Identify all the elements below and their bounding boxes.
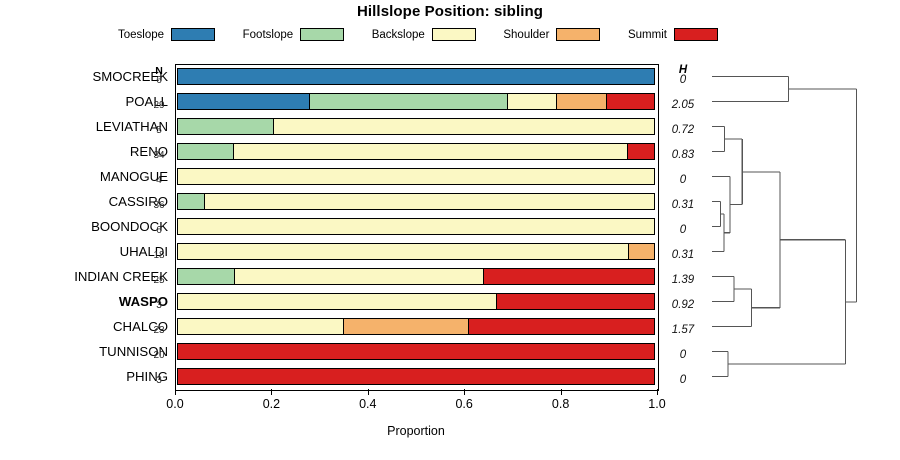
bar-segment-shoulder xyxy=(628,243,655,260)
bar-segment-summit xyxy=(468,318,655,335)
row-count: 18 xyxy=(146,250,172,261)
legend-item-backslope: Backslope xyxy=(372,28,476,41)
row-label-smocreek: SMOCREEK xyxy=(0,64,168,89)
chart-root: Hillslope Position: sibling ToeslopeFoot… xyxy=(0,0,900,460)
stacked-bar xyxy=(177,143,655,160)
stacked-bar xyxy=(177,68,655,85)
bar-segment-shoulder xyxy=(556,93,606,110)
x-tick-label: 0.2 xyxy=(251,397,291,411)
legend-item-shoulder: Shoulder xyxy=(503,28,600,41)
dendrogram xyxy=(690,60,900,400)
stacked-bar xyxy=(177,268,655,285)
row-label-leviathan: LEVIATHAN xyxy=(0,114,168,139)
row-count: 25 xyxy=(146,275,172,286)
row-count: 6 xyxy=(146,225,172,236)
bar-segment-backslope xyxy=(177,218,655,235)
bar-segment-footslope xyxy=(177,268,234,285)
row-label-reno: RENO xyxy=(0,139,168,164)
bar-segment-backslope xyxy=(204,193,655,210)
bar-segment-toeslope xyxy=(177,93,309,110)
x-tick-mark xyxy=(561,389,562,395)
stacked-bar xyxy=(177,193,655,210)
bar-segment-backslope xyxy=(177,243,628,260)
stacked-bar xyxy=(177,93,655,110)
legend-swatch-backslope xyxy=(432,28,476,41)
row-count: 3 xyxy=(146,375,172,386)
bar-segment-backslope xyxy=(177,293,496,310)
row-label-phing: PHING xyxy=(0,364,168,389)
legend-item-footslope: Footslope xyxy=(243,28,345,41)
row-count: 4 xyxy=(146,175,172,186)
row-label-manogue: MANOGUE xyxy=(0,164,168,189)
legend-swatch-shoulder xyxy=(556,28,600,41)
bar-segment-summit xyxy=(177,343,655,360)
bar-segment-summit xyxy=(606,93,655,110)
bar-segment-backslope xyxy=(177,318,343,335)
stacked-bar xyxy=(177,368,655,385)
row-label-chalco: CHALCO xyxy=(0,314,168,339)
row-count: 23 xyxy=(146,325,172,336)
stacked-bar xyxy=(177,218,655,235)
row-count: 6 xyxy=(146,75,172,86)
dendrogram-svg xyxy=(690,60,900,400)
bar-segment-backslope xyxy=(177,168,655,185)
legend-label: Shoulder xyxy=(503,29,549,41)
stacked-bar xyxy=(177,343,655,360)
bar-segment-backslope xyxy=(233,143,627,160)
bar-segment-footslope xyxy=(177,143,233,160)
legend-label: Backslope xyxy=(372,29,425,41)
row-count: 29 xyxy=(146,100,172,111)
legend-item-toeslope: Toeslope xyxy=(118,28,215,41)
bar-segment-backslope xyxy=(507,93,556,110)
bar-segment-footslope xyxy=(309,93,507,110)
bar-segment-summit xyxy=(496,293,655,310)
x-tick-label: 1.0 xyxy=(637,397,677,411)
bar-segment-backslope xyxy=(234,268,483,285)
bar-segment-footslope xyxy=(177,193,204,210)
bar-segment-summit xyxy=(627,143,655,160)
x-tick-label: 0.8 xyxy=(541,397,581,411)
legend-swatch-summit xyxy=(674,28,718,41)
row-label-poall: POALL xyxy=(0,89,168,114)
stacked-bar xyxy=(177,118,655,135)
bar-segment-shoulder xyxy=(343,318,468,335)
x-tick-mark xyxy=(271,389,272,395)
row-label-waspo: WASPO xyxy=(0,289,168,314)
legend-swatch-footslope xyxy=(300,28,344,41)
legend: ToeslopeFootslopeBackslopeShoulderSummit xyxy=(118,26,718,43)
legend-item-summit: Summit xyxy=(628,28,718,41)
row-count: 20 xyxy=(146,350,172,361)
x-tick-label: 0.6 xyxy=(444,397,484,411)
legend-label: Footslope xyxy=(243,29,294,41)
x-tick-mark xyxy=(464,389,465,395)
row-count: 3 xyxy=(146,300,172,311)
legend-swatch-toeslope xyxy=(171,28,215,41)
page-title: Hillslope Position: sibling xyxy=(0,3,900,20)
stacked-bar xyxy=(177,293,655,310)
row-label-uhaldi: UHALDI xyxy=(0,239,168,264)
row-label-boondock: BOONDOCK xyxy=(0,214,168,239)
stacked-bar xyxy=(177,168,655,185)
row-label-indian-creek: INDIAN CREEK xyxy=(0,264,168,289)
x-axis: 0.00.20.40.60.81.0 xyxy=(175,389,657,419)
x-tick-label: 0.4 xyxy=(348,397,388,411)
row-count: 34 xyxy=(146,150,172,161)
bar-segment-backslope xyxy=(273,118,655,135)
bar-segment-footslope xyxy=(177,118,273,135)
bar-segment-summit xyxy=(177,368,655,385)
row-label-tunnison: TUNNISON xyxy=(0,339,168,364)
bar-segment-summit xyxy=(483,268,655,285)
row-count: 5 xyxy=(146,125,172,136)
legend-label: Toeslope xyxy=(118,29,164,41)
row-label-cassiro: CASSIRO xyxy=(0,189,168,214)
stacked-bar xyxy=(177,243,655,260)
x-tick-mark xyxy=(175,389,176,395)
legend-label: Summit xyxy=(628,29,667,41)
x-tick-mark xyxy=(368,389,369,395)
x-tick-mark xyxy=(657,389,658,395)
x-tick-label: 0.0 xyxy=(155,397,195,411)
x-axis-label: Proportion xyxy=(175,424,657,438)
stacked-bar xyxy=(177,318,655,335)
row-count: 36 xyxy=(146,200,172,211)
bar-segment-toeslope xyxy=(177,68,655,85)
